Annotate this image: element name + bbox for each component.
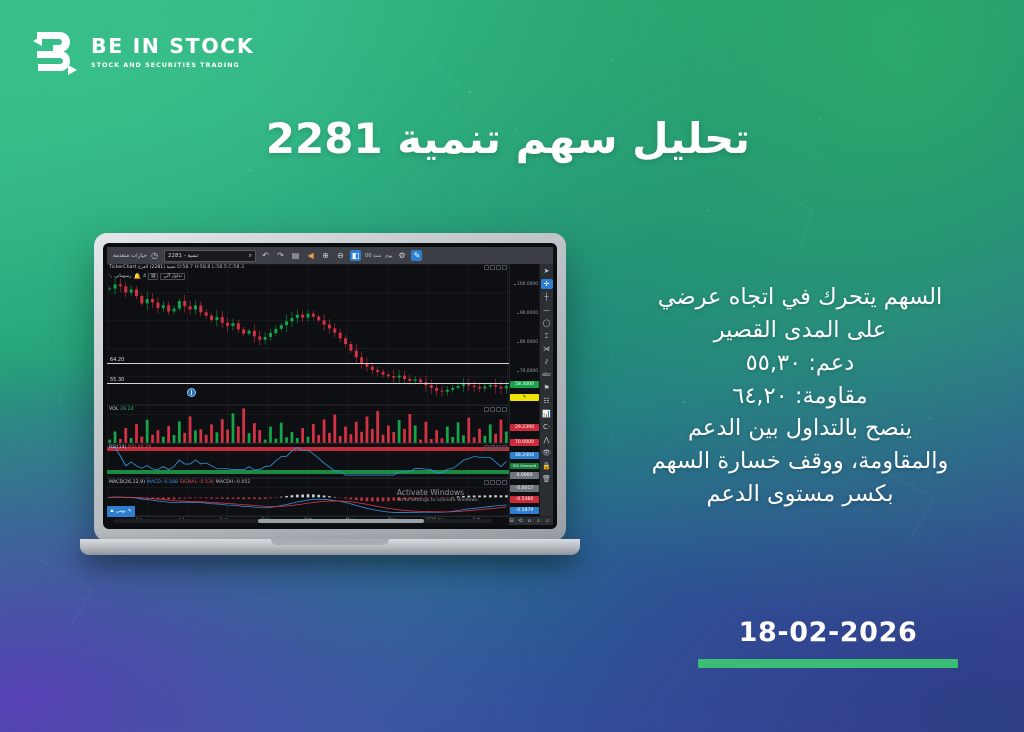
- analysis-line-5: ينصح بالتداول بين الدعم: [604, 412, 996, 445]
- analysis-text: السهم يتحرك في اتجاه عرضي على المدى القص…: [604, 281, 996, 511]
- horizontal-line-icon[interactable]: —: [541, 305, 553, 315]
- eye-hide-icon[interactable]: 👁: [541, 448, 553, 458]
- vertical-line-icon[interactable]: ┼: [541, 292, 553, 302]
- macd-value: MACD:-0.588: [147, 480, 178, 485]
- scale-icon[interactable]: ⊟: [508, 518, 515, 524]
- symbol-search-input[interactable]: ⌕ تنمية - 2281: [164, 250, 256, 262]
- macd-signal-value: SIGNAL:-0.536: [180, 480, 215, 485]
- fib-icon[interactable]: ⋊: [541, 344, 553, 354]
- brand-tagline: STOCK AND SECURITIES TRADING: [91, 62, 254, 68]
- pane-minimize-icon[interactable]: [484, 407, 489, 412]
- text-abc-icon[interactable]: abc: [541, 370, 553, 380]
- indicator-list-icon[interactable]: ☷: [541, 396, 553, 406]
- price-tick-80: 80.0000: [520, 340, 538, 345]
- settings-gear-icon[interactable]: ⚙: [396, 250, 407, 261]
- cursor-icon[interactable]: ➤: [541, 266, 553, 276]
- volume-title: VOL: [109, 407, 119, 412]
- macd-value-badge: -0.5879: [510, 507, 539, 514]
- brand-name: BE IN STOCK: [91, 36, 254, 57]
- app-toolbar: ✎ ⚙ يوم سنة 00 ◧ ⊖ ⊕ ◀ ▤ ↷ ↶ ⌕ تنمية -: [107, 247, 553, 264]
- laptop-mockup: ✎ ⚙ يوم سنة 00 ◧ ⊖ ⊕ ◀ ▤ ↷ ↶ ⌕ تنمية -: [80, 233, 580, 583]
- support-line-shape: [107, 383, 509, 384]
- resistance-line-shape: [107, 363, 509, 364]
- price-axis[interactable]: 100.0000 90.0000 80.0000 70.0000 58.3000…: [509, 264, 539, 516]
- trading-app: ✎ ⚙ يوم سنة 00 ◧ ⊖ ⊕ ◀ ▤ ↷ ↶ ⌕ تنمية -: [107, 247, 553, 525]
- scroll-track[interactable]: [114, 519, 493, 523]
- price-tick-90: 90.0000: [520, 311, 538, 316]
- pane-close-icon[interactable]: [502, 407, 507, 412]
- drawing-tool-rail[interactable]: ➤ ✛ ┼ — ◯ ⌶ ⋊ ⫽ abc ⚑ ☷ 📊 C·: [539, 264, 553, 516]
- auto-trade-chip[interactable]: تداول آلي: [160, 273, 185, 280]
- rsi-zero-badge: 0.0000: [510, 472, 539, 479]
- unit-label: سنة 00: [365, 253, 381, 259]
- symbol-search-value: تنمية - 2281: [168, 253, 198, 259]
- magnet-icon[interactable]: C·: [541, 422, 553, 432]
- lock-icon[interactable]: 🔒: [541, 461, 553, 471]
- pane-close-icon[interactable]: [502, 265, 507, 270]
- support-line: دعم: ٥٥,٣٠: [604, 347, 996, 380]
- price-pane-field: الفرع: [138, 265, 148, 270]
- pane-maximize-icon[interactable]: [490, 265, 495, 270]
- price-pane-subtoolbar[interactable]: تداول آلي ▤ 4 🔔 رسوماتي ⟋: [109, 273, 185, 280]
- chart-type-icon: ⛰: [110, 508, 114, 514]
- rsi-pane-buttons[interactable]: [484, 445, 507, 450]
- timeframe-label: يومي: [116, 509, 126, 514]
- laptop-lid: ✎ ⚙ يوم سنة 00 ◧ ⊖ ⊕ ◀ ▤ ↷ ↶ ⌕ تنمية -: [94, 233, 566, 541]
- rsi-overbought-badge: 70.0000: [510, 439, 539, 446]
- pane-settings-icon[interactable]: [496, 407, 501, 412]
- rsi-title: RSI(14): [109, 445, 127, 450]
- bell-icon[interactable]: 🔔: [134, 273, 141, 280]
- brand-logo: BE IN STOCK STOCK AND SECURITIES TRADING: [30, 27, 254, 77]
- analysis-line-7: بكسر مستوى الدعم: [604, 478, 996, 511]
- laptop-notch: [271, 539, 389, 545]
- rsi-oversold-label-badge: RSI Oversold: [510, 463, 539, 469]
- alerts-count: 4: [143, 274, 146, 279]
- price-pane-header: TickerChart تنمية (2281) الفرع O:58.7 H:…: [109, 265, 244, 270]
- pane-maximize-icon[interactable]: [490, 480, 495, 485]
- macd-pane[interactable]: MACD(26,12,9) MACD:-0.588 SIGNAL:-0.536 …: [107, 478, 509, 516]
- camera-icon[interactable]: ▤: [290, 250, 301, 261]
- pane-minimize-icon[interactable]: [484, 265, 489, 270]
- be-in-stock-arrows-logo-icon: [30, 27, 78, 77]
- list-icon[interactable]: ▤: [148, 273, 158, 280]
- indicators-icon[interactable]: ◧: [350, 250, 361, 261]
- macd-title: MACD(26,12,9): [109, 480, 145, 485]
- support-label: 55.30: [109, 377, 125, 383]
- zoom-out-icon[interactable]: ⌕: [535, 518, 542, 524]
- timeframe-badge[interactable]: ⛰ يومي ✎: [107, 506, 135, 517]
- volume-badge: 29.2390: [510, 424, 539, 431]
- volume-pane-buttons[interactable]: [484, 407, 507, 412]
- chart-area: TickerChart تنمية (2281) الفرع O:58.7 H:…: [107, 264, 553, 516]
- analysis-line-2: على المدى القصير: [604, 314, 996, 347]
- drawing-icon[interactable]: ⟋: [109, 274, 112, 280]
- chart-panes: TickerChart تنمية (2281) الفرع O:58.7 H:…: [107, 264, 509, 516]
- date-underline: [698, 659, 958, 668]
- pane-minimize-icon[interactable]: [484, 480, 489, 485]
- macd-hist-value: MACDH:-0.052: [216, 480, 251, 485]
- price-tick-100: 100.0000: [517, 282, 538, 287]
- magnifier-icon: ⌕: [249, 252, 252, 260]
- screen-bezel: ✎ ⚙ يوم سنة 00 ◧ ⊖ ⊕ ◀ ▤ ↷ ↶ ⌕ تنمية -: [103, 243, 557, 529]
- date-block: 18-02-2026: [698, 617, 958, 668]
- chart-type-icon[interactable]: 📊: [541, 409, 553, 419]
- parallel-lines-icon[interactable]: ⫽: [541, 357, 553, 367]
- plus-circle-icon[interactable]: ⊕: [320, 250, 331, 261]
- page-title: تحليل سهم تنمية 2281: [266, 114, 750, 163]
- macd-pane-header: MACD(26,12,9) MACD:-0.588 SIGNAL:-0.536 …: [109, 480, 251, 485]
- minus-circle-icon[interactable]: ⊖: [335, 250, 346, 261]
- pane-settings-icon[interactable]: [496, 480, 501, 485]
- rsi-value-badge: 48.2404: [510, 452, 539, 459]
- pane-close-icon[interactable]: [502, 480, 507, 485]
- trash-icon[interactable]: 🗑: [541, 474, 553, 484]
- price-pane[interactable]: TickerChart تنمية (2281) الفرع O:58.7 H:…: [107, 264, 509, 405]
- analysis-line-1: السهم يتحرك في اتجاه عرضي: [604, 281, 996, 314]
- analysis-line-6: والمقاومة، ووقف خسارة السهم: [604, 445, 996, 478]
- price-tick-70: 70.0000: [520, 369, 538, 374]
- pane-maximize-icon[interactable]: [490, 445, 495, 450]
- my-drawings-label[interactable]: رسوماتي: [114, 274, 131, 279]
- pen-icon[interactable]: ✎: [411, 250, 422, 261]
- price-pane-ohlc: O:58.7 H:58.8 L:58.5 C:58.3: [177, 265, 244, 270]
- pane-maximize-icon[interactable]: [490, 407, 495, 412]
- zoom-in-icon[interactable]: ⌕: [544, 518, 551, 524]
- ellipse-icon[interactable]: ◯: [541, 318, 553, 328]
- clock-icon: ◷: [149, 250, 160, 261]
- price-pane-buttons[interactable]: [484, 265, 507, 270]
- flag-icon[interactable]: ⚑: [541, 383, 553, 393]
- scroll-thumb[interactable]: [258, 519, 425, 523]
- resistance-label: 64.20: [109, 357, 125, 363]
- pattern-icon[interactable]: ⋀: [541, 435, 553, 445]
- macd-pane-buttons[interactable]: [484, 480, 507, 485]
- redo-icon[interactable]: ↷: [275, 250, 286, 261]
- last-price-badge: 58.3000: [510, 381, 539, 388]
- volume-value: 29.24: [120, 407, 134, 412]
- pane-settings-icon[interactable]: [496, 265, 501, 270]
- pane-close-icon[interactable]: [502, 445, 507, 450]
- macd-hist-badge: -0.0017: [510, 485, 539, 492]
- reset-icon[interactable]: ⟲: [517, 518, 524, 524]
- measure-icon[interactable]: ⌶: [541, 331, 553, 341]
- rsi-series: [107, 444, 509, 478]
- pen-icon: ✎: [128, 509, 132, 514]
- alert-flag-icon[interactable]: ◀: [305, 250, 316, 261]
- macd-signal-badge: -0.5360: [510, 496, 539, 503]
- rsi-pane-header: RSI(14) RSI:48.29: [109, 445, 151, 450]
- advanced-options-button[interactable]: ◷ خيارات متقدمة: [113, 250, 160, 261]
- rsi-value: RSI:48.29: [128, 445, 151, 450]
- volume-pane-header: VOL 29.24: [109, 407, 134, 412]
- pane-settings-icon[interactable]: [496, 445, 501, 450]
- rsi-pane[interactable]: RSI(14) RSI:48.29: [107, 443, 509, 478]
- undo-icon[interactable]: ↶: [260, 250, 271, 261]
- date-text: 18-02-2026: [698, 617, 958, 648]
- pending-order-badge: ✎: [510, 394, 539, 401]
- advanced-options-label: خيارات متقدمة: [113, 253, 147, 259]
- volume-pane[interactable]: VOL 29.24: [107, 405, 509, 443]
- volume-series: [107, 406, 509, 443]
- crosshair-icon[interactable]: ✛: [541, 279, 553, 289]
- mode-label: يوم: [385, 253, 392, 259]
- poster-canvas: BE IN STOCK STOCK AND SECURITIES TRADING…: [0, 0, 1024, 732]
- pointer-icon[interactable]: ⌂: [526, 518, 533, 524]
- resistance-line: مقاومة: ٦٤,٢٠: [604, 380, 996, 413]
- pane-minimize-icon[interactable]: [484, 445, 489, 450]
